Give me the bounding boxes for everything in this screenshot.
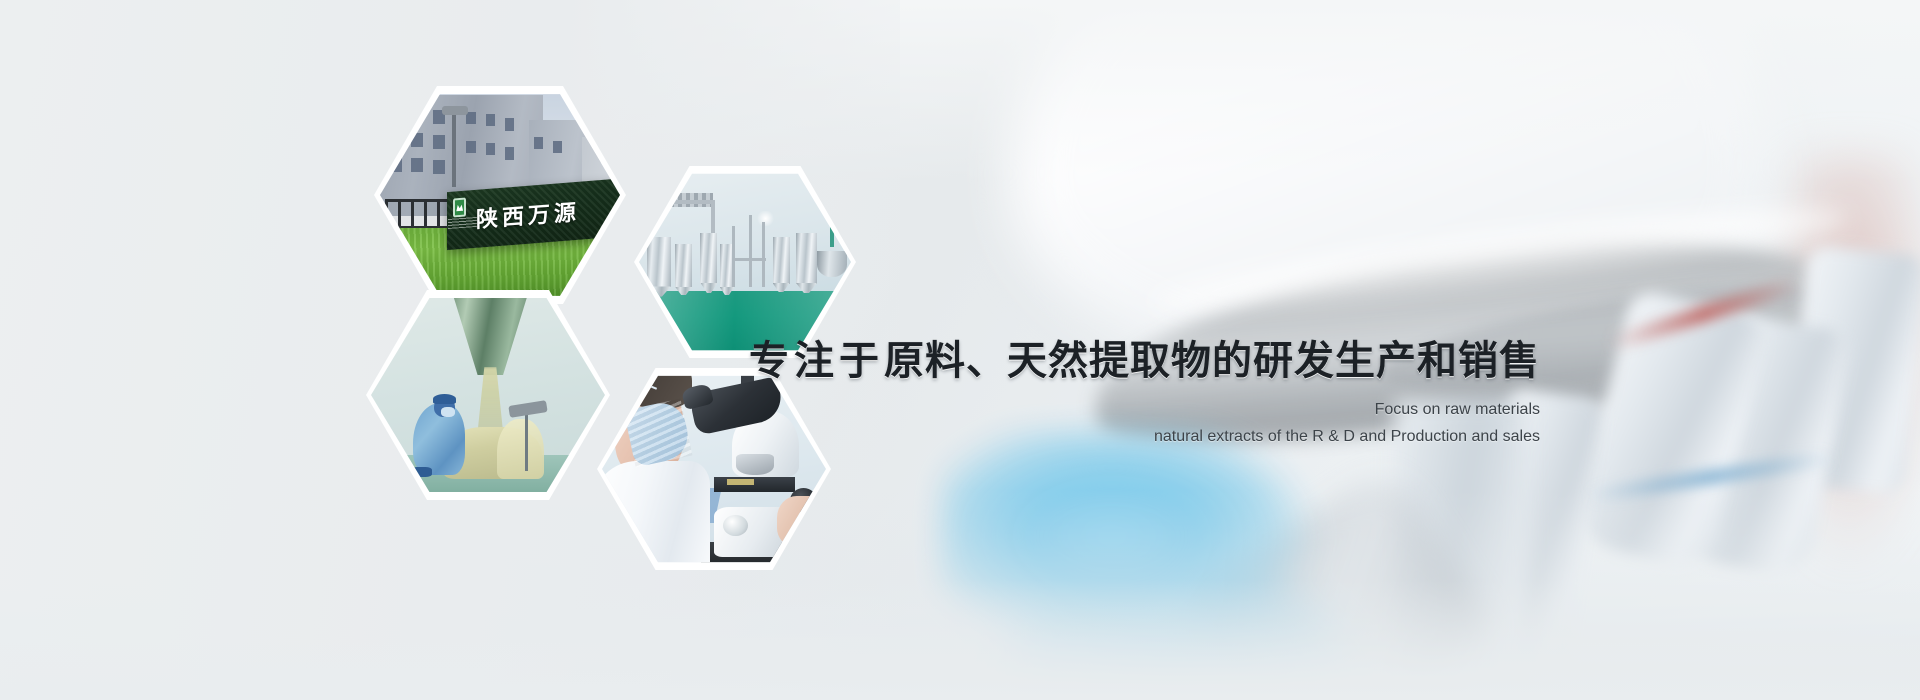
- hex-image-factory-gate[interactable]: 陕西万源: [380, 91, 620, 299]
- window: [486, 114, 496, 126]
- extraction-tank: [700, 233, 717, 284]
- headline-strong: 原料、天然提取物的研发生产和销售: [884, 338, 1540, 384]
- worker-cap: [433, 394, 456, 404]
- banner-text-block: 专注于原料、天然提取物的研发生产和销售 Focus on raw materia…: [700, 340, 1540, 450]
- microscope-nosepiece: [736, 454, 774, 475]
- banner-headline: 专注于原料、天然提取物的研发生产和销售: [700, 340, 1540, 383]
- subtitle-line-1: Focus on raw materials: [700, 397, 1540, 423]
- lab-coat: [602, 461, 710, 565]
- banner-subtitle: Focus on raw materials natural extracts …: [700, 397, 1540, 450]
- hero-banner: 陕西万源: [0, 0, 1920, 700]
- extraction-tank: [773, 237, 790, 284]
- window: [411, 158, 423, 173]
- window: [486, 143, 496, 155]
- fence-rail-top: [385, 199, 447, 202]
- window: [534, 137, 544, 149]
- extraction-tank: [796, 233, 817, 284]
- window: [433, 160, 445, 175]
- headline-lead: 专注于: [749, 338, 884, 384]
- pipe: [732, 226, 735, 288]
- window: [553, 141, 563, 153]
- window: [505, 147, 515, 159]
- window: [433, 135, 445, 150]
- window: [505, 118, 515, 130]
- window: [466, 141, 476, 153]
- microscope-stage: [714, 477, 795, 492]
- platform-post-left: [645, 200, 649, 240]
- ceiling-light-glow: [756, 211, 775, 226]
- window: [390, 108, 402, 123]
- floor-lamp-stand: [525, 411, 528, 471]
- light-pole: [452, 112, 456, 187]
- window: [390, 133, 402, 148]
- platform-rail: [645, 200, 713, 204]
- worker-face-mask: [441, 407, 455, 417]
- hex-image-production-workshop[interactable]: [639, 171, 851, 353]
- hex-image-powder-discharge[interactable]: [371, 295, 605, 495]
- illuminator-knob: [723, 515, 748, 536]
- subtitle-line-2: natural extracts of the R & D and Produc…: [700, 424, 1540, 450]
- window: [466, 112, 476, 124]
- collection-bag: [497, 419, 544, 479]
- extraction-tank: [675, 244, 692, 288]
- specimen-slide: [727, 479, 754, 486]
- company-logo-subtext: [448, 217, 477, 230]
- pipe: [762, 222, 765, 288]
- extraction-tank: [647, 237, 670, 288]
- open-kettle: [817, 251, 847, 276]
- pipe: [732, 258, 766, 261]
- company-shield-logo-icon: [453, 198, 466, 218]
- pipe: [749, 215, 752, 288]
